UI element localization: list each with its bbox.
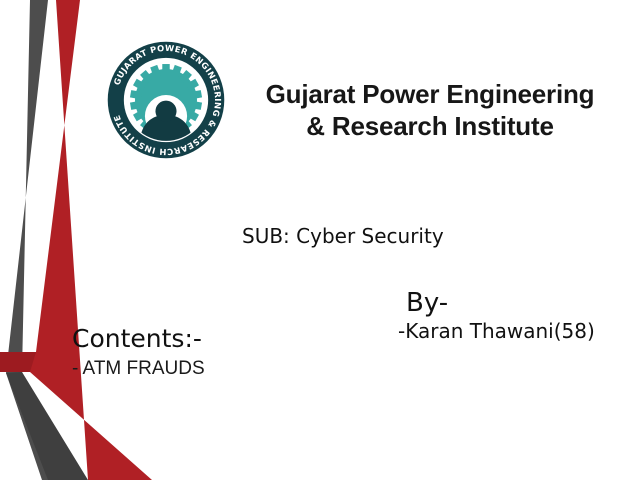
contents-item: - ATM FRAUDS — [72, 356, 205, 382]
subject-text: SUB: Cyber Security — [242, 224, 444, 248]
author-label: By- — [398, 288, 595, 318]
author-block: By- -Karan Thawani(58) — [398, 288, 595, 344]
institute-logo: GUJARAT POWER ENGINEERING & RESEARCH INS… — [104, 38, 228, 162]
presentation-slide: GUJARAT POWER ENGINEERING & RESEARCH INS… — [0, 0, 640, 480]
contents-heading: Contents:- — [72, 324, 205, 354]
contents-block: Contents:- - ATM FRAUDS — [72, 324, 205, 382]
gray-ribbon — [6, 0, 62, 480]
logo-figure-head — [155, 101, 176, 122]
page-title-line2: & Research Institute — [244, 110, 616, 142]
author-name: -Karan Thawani(58) — [398, 318, 595, 344]
page-title-line1: Gujarat Power Engineering — [266, 79, 595, 109]
gray-ribbon-lower — [6, 372, 88, 480]
page-title: Gujarat Power Engineering & Research Ins… — [244, 78, 616, 142]
red-ribbon-bend — [0, 352, 36, 372]
